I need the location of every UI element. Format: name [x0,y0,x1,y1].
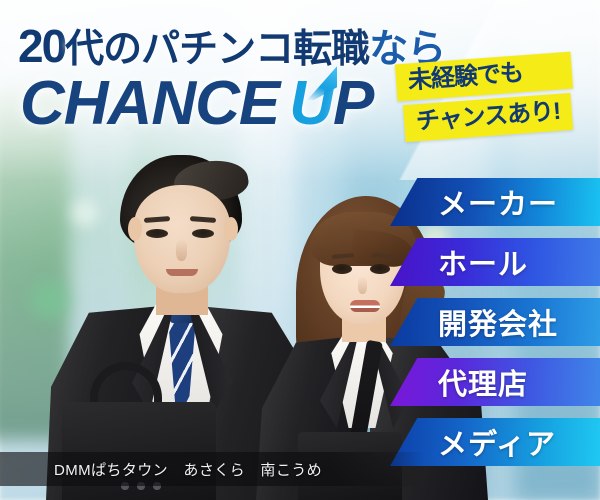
ear-right [224,217,238,241]
category-list: メーカー ホール 開発会社 代理店 メディア [390,178,600,478]
category-label: 代理店 [438,361,528,403]
mouth [166,269,198,276]
nose [358,276,367,294]
eye-left [332,264,352,274]
logo-p-letter: P [333,69,373,138]
highlight-badges: 未経験でも チャンスあり! [396,58,572,137]
category-item-maker[interactable]: メーカー [390,178,600,226]
category-item-development-company[interactable]: 開発会社 [390,298,600,346]
eye-right [370,264,390,274]
badge-chance-available: チャンスあり! [403,93,574,143]
mouth [350,300,380,312]
category-label: メーカー [438,181,558,223]
ear-left [128,217,142,241]
headline-line-1: 20代のパチンコ転職なら [18,18,445,74]
headline-line-1-text: 代のパチンコ転職 [65,28,369,71]
logo-chance-text: CHANCE [20,69,279,138]
headline-line-2: CHANCEUP [20,68,373,139]
category-label: メディア [438,421,556,463]
caption-band: DMMぱちタウン あさくら 南こうめ [0,452,424,486]
nose [176,239,187,261]
eye-left [146,229,168,238]
category-item-agency[interactable]: 代理店 [390,358,600,406]
eye-right [192,229,214,238]
caption-credits: DMMぱちタウン あさくら 南こうめ [54,459,322,480]
logo-up-group: UP [289,68,373,139]
category-label: 開発会社 [438,301,558,343]
category-label: ホール [438,241,528,283]
recruitment-banner[interactable]: 20代のパチンコ転職なら CHANCEUP 未経験でも チャンスあり! メーカー… [0,0,600,500]
headline-age-number: 20 [18,20,65,72]
category-item-hall[interactable]: ホール [390,238,600,286]
